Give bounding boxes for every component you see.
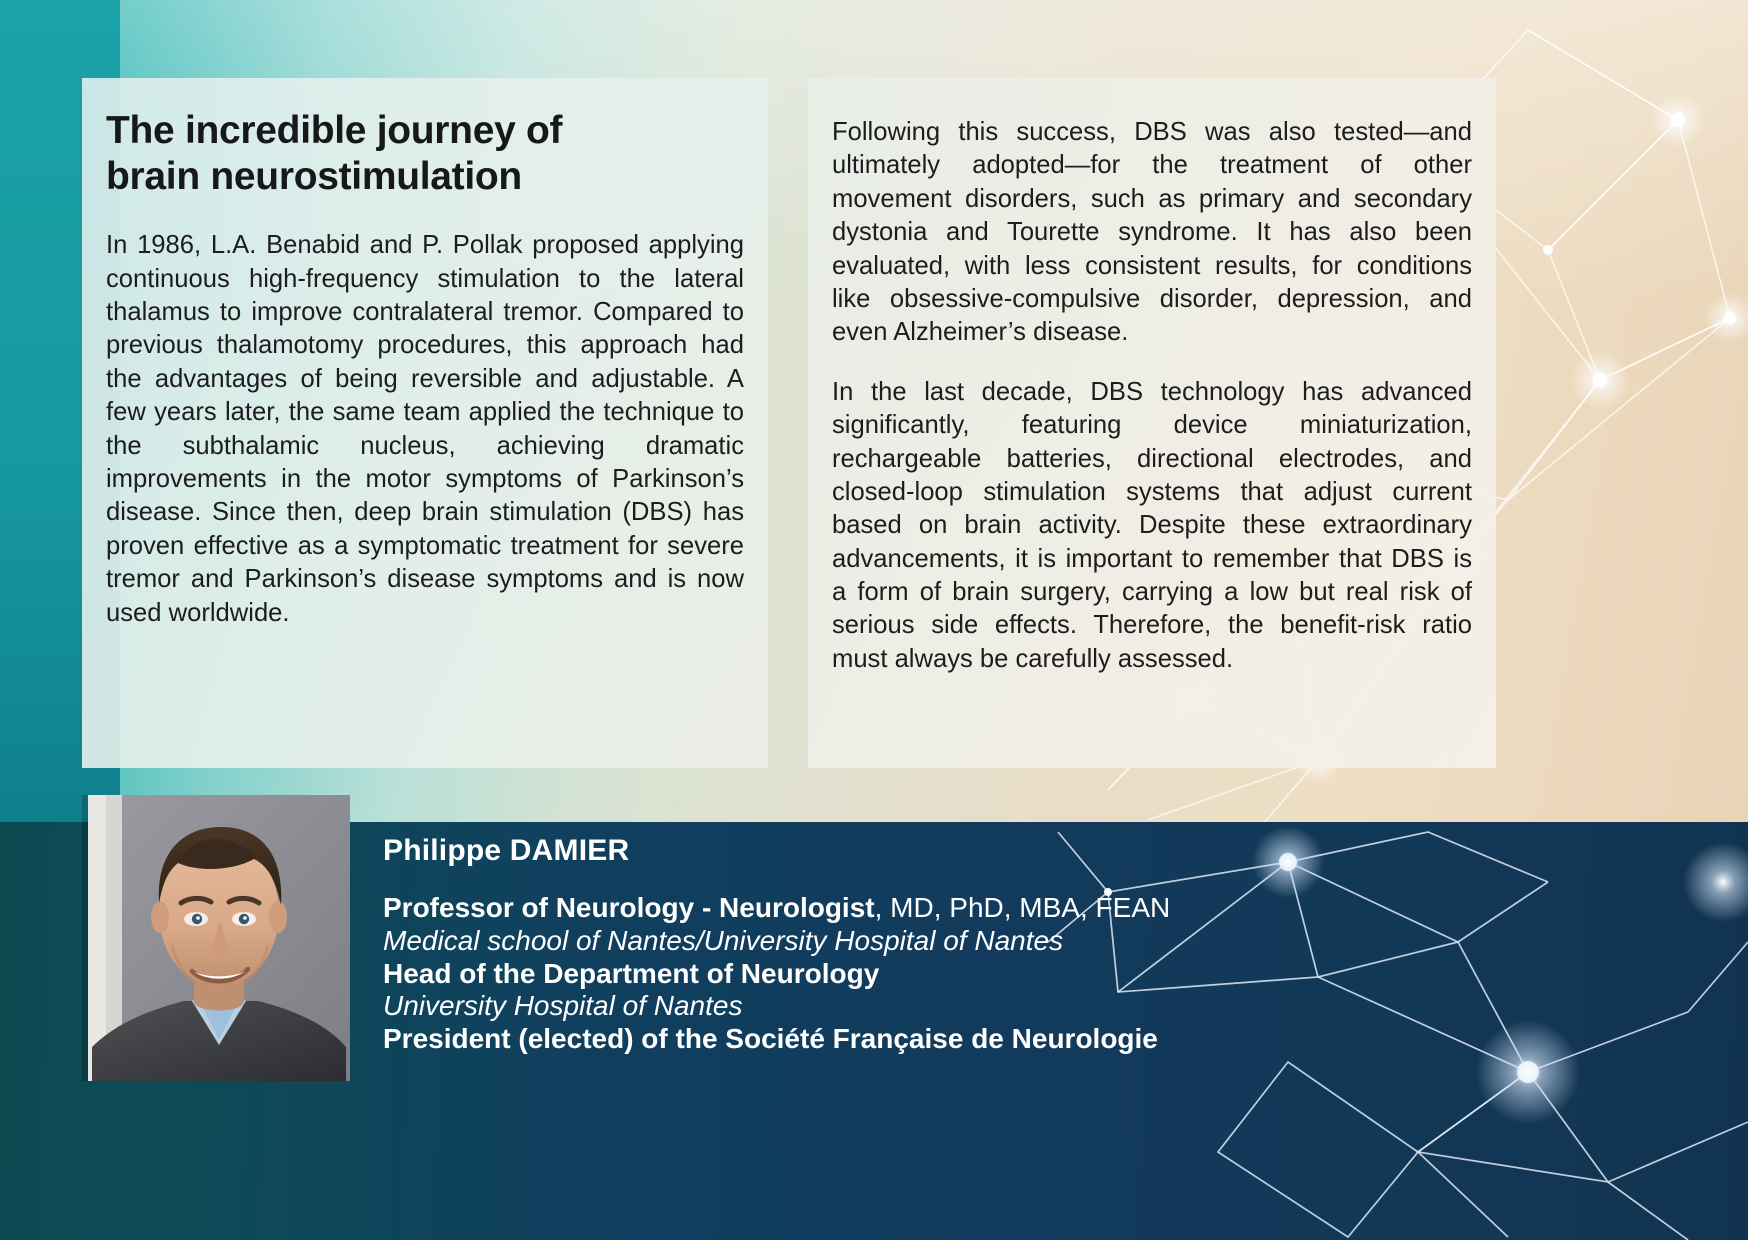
- article-paragraph-right-1: Following this success, DBS was also tes…: [832, 116, 1472, 350]
- page-title-line1: The incredible journey of: [106, 109, 562, 152]
- article-paragraph-left-1: In 1986, L.A. Benabid and P. Pollak prop…: [106, 229, 744, 630]
- speaker-role-primary-bold: Professor of Neurology - Neurologist: [383, 892, 875, 923]
- article-paragraph-right-2: In the last decade, DBS technology has a…: [832, 376, 1472, 677]
- speaker-name: Philippe DAMIER: [383, 836, 1483, 866]
- article-panel-left: The incredible journey ofbrain neurostim…: [82, 78, 768, 768]
- portrait-photo-icon: [88, 795, 350, 1081]
- speaker-role-tertiary: President (elected) of the Société Franç…: [383, 1023, 1483, 1056]
- speaker-affiliation-2: University Hospital of Nantes: [383, 990, 1483, 1023]
- avatar: [88, 795, 350, 1081]
- slide-canvas: The incredible journey ofbrain neurostim…: [0, 0, 1748, 1240]
- page-title-line2: brain neurostimulation: [106, 155, 522, 198]
- page-title: The incredible journey ofbrain neurostim…: [106, 108, 744, 199]
- speaker-role-primary-degrees: , MD, PhD, MBA, FEAN: [875, 892, 1171, 923]
- article-panel-right: Following this success, DBS was also tes…: [808, 78, 1496, 768]
- speaker-credentials: Philippe DAMIER Professor of Neurology -…: [383, 836, 1483, 1056]
- speaker-role-primary: Professor of Neurology - Neurologist, MD…: [383, 892, 1483, 925]
- speaker-affiliation-1: Medical school of Nantes/University Hosp…: [383, 925, 1483, 958]
- speaker-role-secondary: Head of the Department of Neurology: [383, 958, 1483, 991]
